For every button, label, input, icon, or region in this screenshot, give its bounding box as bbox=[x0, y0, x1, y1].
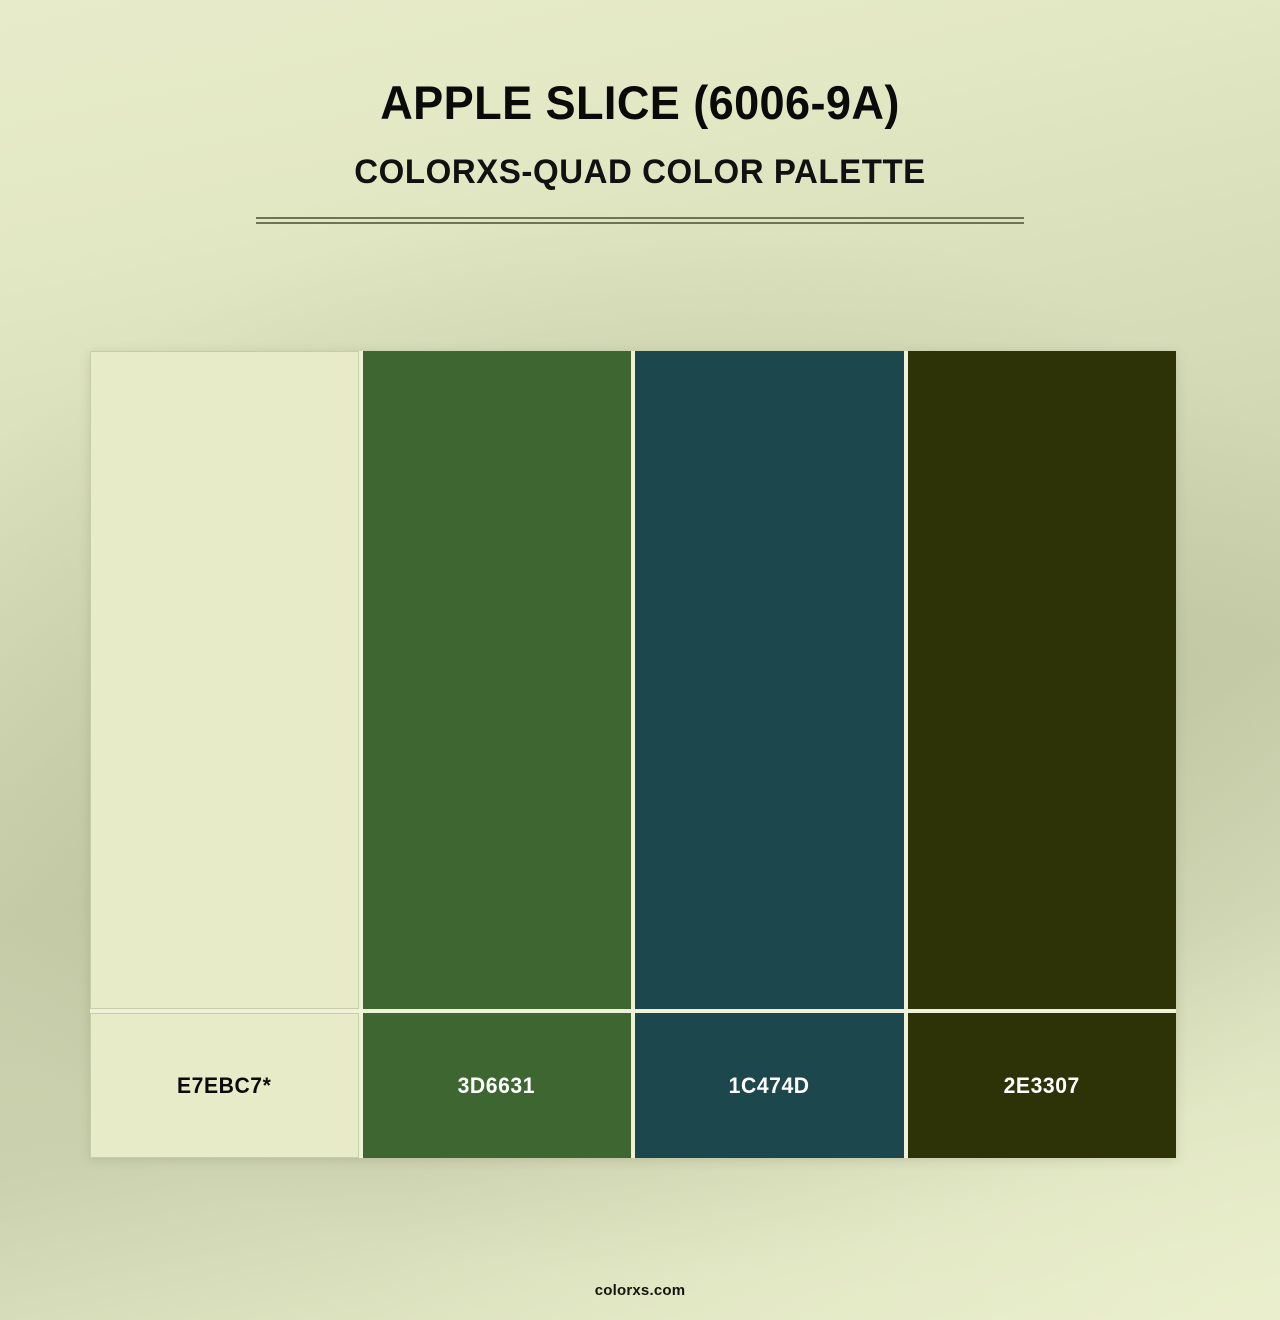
header: APPLE SLICE (6006-9A) COLORXS-QUAD COLOR… bbox=[0, 0, 1280, 225]
header-divider bbox=[256, 217, 1024, 225]
color-hex-label: 2E3307 bbox=[1004, 1073, 1080, 1099]
color-swatch[interactable] bbox=[631, 351, 904, 1009]
color-hex-label: 1C474D bbox=[729, 1073, 810, 1099]
color-swatch[interactable] bbox=[90, 351, 359, 1009]
color-label-cell[interactable]: 1C474D bbox=[631, 1013, 904, 1158]
swatch-label-row: E7EBC7* 3D6631 1C474D 2E3307 bbox=[90, 1009, 1176, 1158]
color-label-cell[interactable]: 3D6631 bbox=[359, 1013, 632, 1158]
divider-line-top bbox=[256, 217, 1024, 219]
color-label-cell[interactable]: 2E3307 bbox=[904, 1013, 1177, 1158]
color-swatch[interactable] bbox=[904, 351, 1177, 1009]
color-label-cell[interactable]: E7EBC7* bbox=[90, 1013, 359, 1158]
swatch-row bbox=[90, 351, 1176, 1009]
divider-line-bottom bbox=[256, 222, 1024, 224]
color-hex-label: 3D6631 bbox=[458, 1073, 535, 1099]
color-swatch[interactable] bbox=[359, 351, 632, 1009]
page-title: APPLE SLICE (6006-9A) bbox=[26, 78, 1255, 127]
footer-site-label: colorxs.com bbox=[0, 1282, 1280, 1299]
color-palette: E7EBC7* 3D6631 1C474D 2E3307 bbox=[90, 351, 1176, 1158]
color-hex-label: E7EBC7* bbox=[177, 1073, 271, 1099]
page-subtitle: COLORXS-QUAD COLOR PALETTE bbox=[19, 155, 1261, 191]
